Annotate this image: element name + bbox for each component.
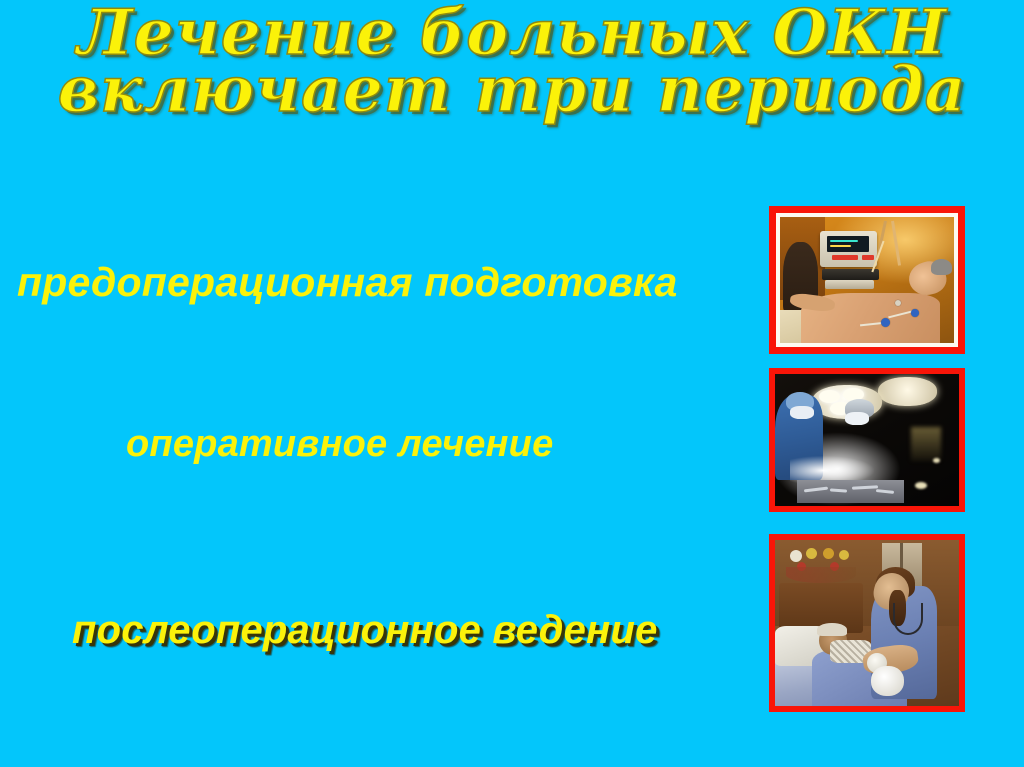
operating-room-photo-frame bbox=[769, 368, 965, 512]
bullet-preoperative-preparation: предоперационная подготовка bbox=[17, 259, 677, 306]
title-line-2: включает три периода bbox=[0, 59, 1024, 120]
icu-patient-photo bbox=[780, 217, 954, 343]
operating-room-photo bbox=[775, 374, 959, 506]
nurse-postop-care-photo bbox=[775, 540, 959, 706]
nurse-postop-care-photo-frame bbox=[769, 534, 965, 712]
icu-patient-photo-frame bbox=[769, 206, 965, 354]
slide: Лечение больных ОКН включает три периода… bbox=[0, 0, 1024, 767]
bullet-postoperative-management: послеоперационное ведение bbox=[72, 608, 658, 653]
photo-mat bbox=[776, 213, 958, 347]
bullet-operative-treatment: оперативное лечение bbox=[126, 423, 553, 466]
page-title: Лечение больных ОКН включает три периода bbox=[0, 2, 1024, 120]
